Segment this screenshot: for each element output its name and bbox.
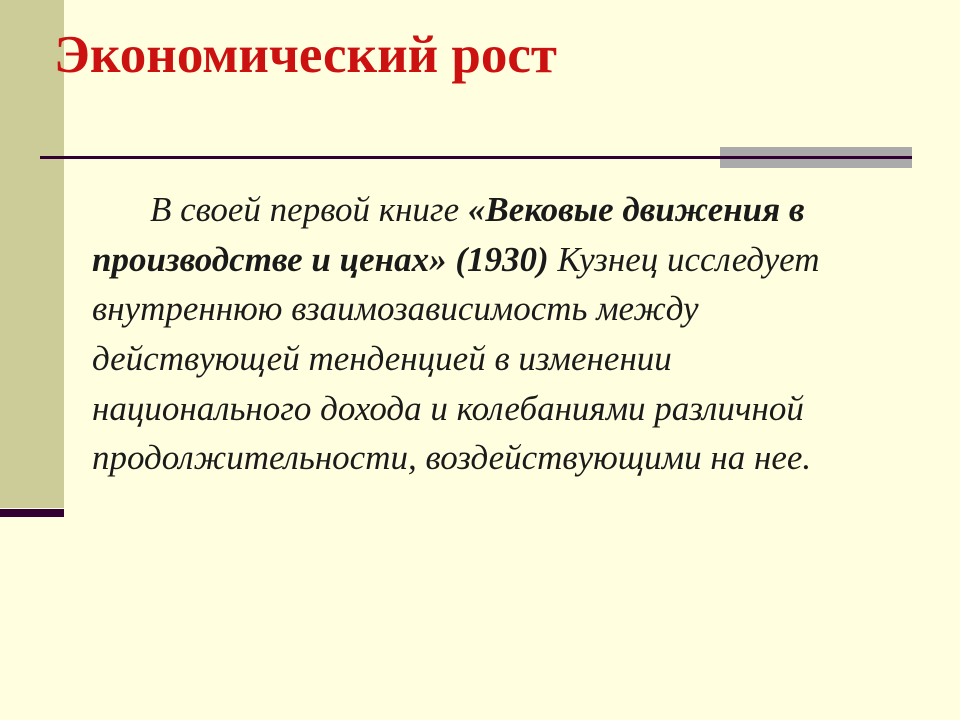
slide-body-text: В своей первой книге «Вековые движения в…	[92, 185, 892, 483]
left-band-end-cap	[0, 509, 64, 517]
body-segment-plain-1: В своей первой книге	[150, 190, 468, 229]
page-title: Экономический рост	[54, 26, 914, 85]
header-divider-line	[40, 156, 912, 159]
presentation-slide: Экономический рост В своей первой книге …	[0, 0, 960, 720]
